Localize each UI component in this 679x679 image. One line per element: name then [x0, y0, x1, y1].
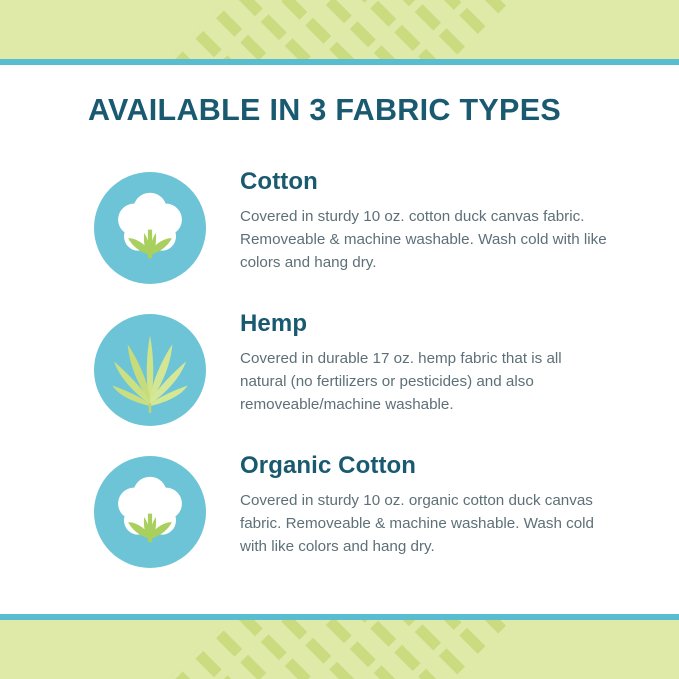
main-content: AVAILABLE IN 3 FABRIC TYPES — [0, 65, 679, 614]
fabric-list: Cotton Covered in sturdy 10 oz. cotton d… — [60, 166, 619, 568]
fabric-description: Covered in sturdy 10 oz. organic cotton … — [240, 489, 612, 558]
fabric-text-hemp: Hemp Covered in durable 17 oz. hemp fabr… — [240, 308, 619, 416]
fabric-heading: Organic Cotton — [240, 452, 619, 480]
top-border-band — [0, 0, 679, 65]
fabric-item-organic-cotton: Organic Cotton Covered in sturdy 10 oz. … — [60, 450, 619, 568]
fabric-types-infographic: AVAILABLE IN 3 FABRIC TYPES — [0, 0, 679, 679]
fabric-heading: Cotton — [240, 168, 619, 196]
hemp-leaf-icon — [94, 314, 206, 426]
cotton-boll-icon — [94, 172, 206, 284]
icon-wrap-hemp — [60, 308, 240, 426]
fabric-description: Covered in durable 17 oz. hemp fabric th… — [240, 347, 612, 416]
fabric-item-hemp: Hemp Covered in durable 17 oz. hemp fabr… — [60, 308, 619, 426]
fabric-text-organic-cotton: Organic Cotton Covered in sturdy 10 oz. … — [240, 450, 619, 558]
fabric-description: Covered in sturdy 10 oz. cotton duck can… — [240, 205, 612, 274]
icon-wrap-organic-cotton — [60, 450, 240, 568]
teal-rule-top — [0, 59, 679, 65]
fabric-item-cotton: Cotton Covered in sturdy 10 oz. cotton d… — [60, 166, 619, 284]
diagonal-stripe-pattern-top — [0, 0, 679, 59]
fabric-text-cotton: Cotton Covered in sturdy 10 oz. cotton d… — [240, 166, 619, 274]
fabric-heading: Hemp — [240, 310, 619, 338]
page-title: AVAILABLE IN 3 FABRIC TYPES — [88, 93, 619, 128]
icon-wrap-cotton — [60, 166, 240, 284]
cotton-boll-icon — [94, 456, 206, 568]
diagonal-stripe-pattern-bottom — [0, 620, 679, 679]
bottom-border-band — [0, 614, 679, 679]
